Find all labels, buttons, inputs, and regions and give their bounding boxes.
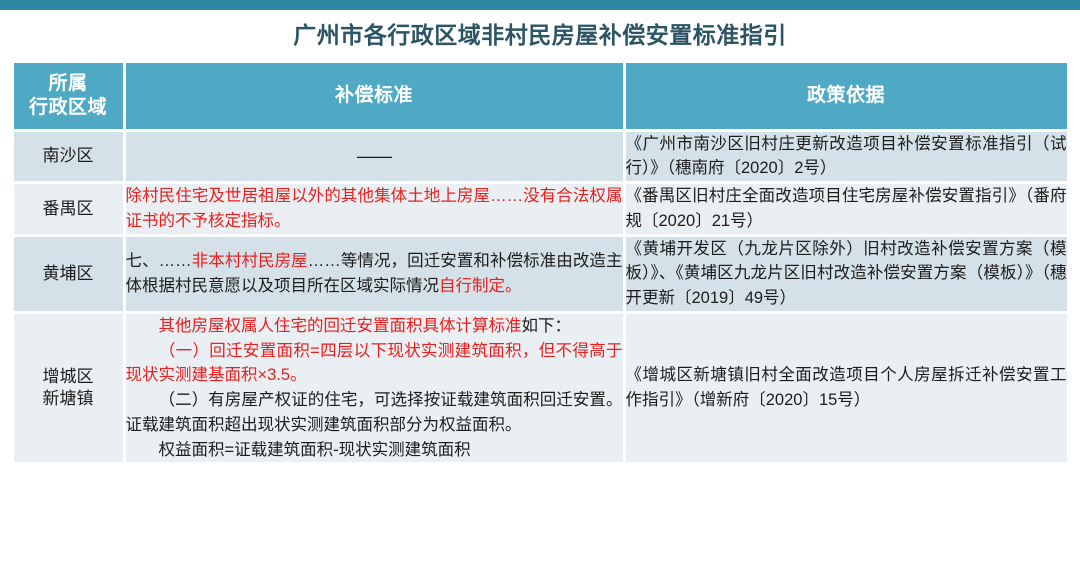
cell-policy: 《黄埔开发区（九龙片区除外）旧村改造补偿安置方案（模板）》、《黄埔区九龙片区旧村… [626,237,1067,311]
highlighted-text: 其他房屋权属人住宅的回迁安置面积具体计算标准 [159,317,522,335]
body-text: （二）有房屋产权证的住宅，可选择按证载建筑面积回迁安置。证载建筑面积超出现状实测… [126,391,623,434]
cell-region-line2: 新塘镇 [14,388,123,410]
table-row: 增城区 新塘镇 其他房屋权属人住宅的回迁安置面积具体计算标准如下：（一）回迁安置… [14,314,1067,463]
body-text: 七、…… [126,252,192,270]
column-header-region: 所属 行政区域 [14,63,123,129]
table-row: 黄埔区 七、……非本村村民房屋……等情况，回迁安置和补偿标准由改造主体根据村民意… [14,237,1067,311]
cell-region: 番禺区 [14,184,123,234]
cell-policy: 《番禺区旧村庄全面改造项目住宅房屋补偿安置指引》（番府规〔2020〕21号） [626,184,1067,234]
body-text: —— [357,146,391,166]
table-body: 南沙区 —— 《广州市南沙区旧村庄更新改造项目补偿安置标准指引（试行）》（穗南府… [14,132,1067,463]
cell-standard: 七、……非本村村民房屋……等情况，回迁安置和补偿标准由改造主体根据村民意愿以及项… [126,237,623,311]
cell-region-line1: 增城区 [14,366,123,388]
column-header-region-line2: 行政区域 [14,96,123,120]
cell-region: 南沙区 [14,132,123,182]
cell-policy: 《广州市南沙区旧村庄更新改造项目补偿安置标准指引（试行）》（穗南府〔2020〕2… [626,132,1067,182]
body-text: 权益面积=证载建筑面积-现状实测建筑面积 [159,441,471,459]
table-header: 所属 行政区域 补偿标准 政策依据 [14,63,1067,129]
cell-standard: —— [126,132,623,182]
cell-standard: 除村民住宅及世居祖屋以外的其他集体土地上房屋……没有合法权属证书的不予核定指标。 [126,184,623,234]
highlighted-text: 自行制定。 [439,277,522,295]
column-header-standard: 补偿标准 [126,63,623,129]
cell-standard: 其他房屋权属人住宅的回迁安置面积具体计算标准如下：（一）回迁安置面积=四层以下现… [126,314,623,463]
column-header-policy: 政策依据 [626,63,1067,129]
table-row: 番禺区 除村民住宅及世居祖屋以外的其他集体土地上房屋……没有合法权属证书的不予核… [14,184,1067,234]
compensation-standards-table: 所属 行政区域 补偿标准 政策依据 南沙区 —— 《广州市南沙区旧村庄更新改造项… [11,60,1070,466]
table-row: 南沙区 —— 《广州市南沙区旧村庄更新改造项目补偿安置标准指引（试行）》（穗南府… [14,132,1067,182]
body-text: 如下： [522,317,572,335]
paragraph: 其他房屋权属人住宅的回迁安置面积具体计算标准如下： [126,314,623,339]
highlighted-text: 除村民住宅及世居祖屋以外的其他集体土地上房屋……没有合法权属证书的不予核定指标。 [126,187,623,230]
top-accent-bar [0,0,1080,10]
highlighted-text: （一）回迁安置面积=四层以下现状实测建筑面积，但不得高于现状实测建基面积×3.5… [126,342,623,385]
paragraph: 权益面积=证载建筑面积-现状实测建筑面积 [126,438,623,463]
page-title: 广州市各行政区域非村民房屋补偿安置标准指引 [0,10,1080,60]
cell-region: 黄埔区 [14,237,123,311]
paragraph: （二）有房屋产权证的住宅，可选择按证载建筑面积回迁安置。证载建筑面积超出现状实测… [126,388,623,438]
cell-policy: 《增城区新塘镇旧村全面改造项目个人房屋拆迁补偿安置工作指引》（增新府〔2020〕… [626,314,1067,463]
table-header-row: 所属 行政区域 补偿标准 政策依据 [14,63,1067,129]
paragraph: （一）回迁安置面积=四层以下现状实测建筑面积，但不得高于现状实测建基面积×3.5… [126,339,623,389]
cell-region: 增城区 新塘镇 [14,314,123,463]
document-page: 广州市各行政区域非村民房屋补偿安置标准指引 所属 行政区域 补偿标准 政策依据 … [0,0,1080,565]
column-header-region-line1: 所属 [14,72,123,96]
highlighted-text: 非本村村民房屋 [192,252,308,270]
